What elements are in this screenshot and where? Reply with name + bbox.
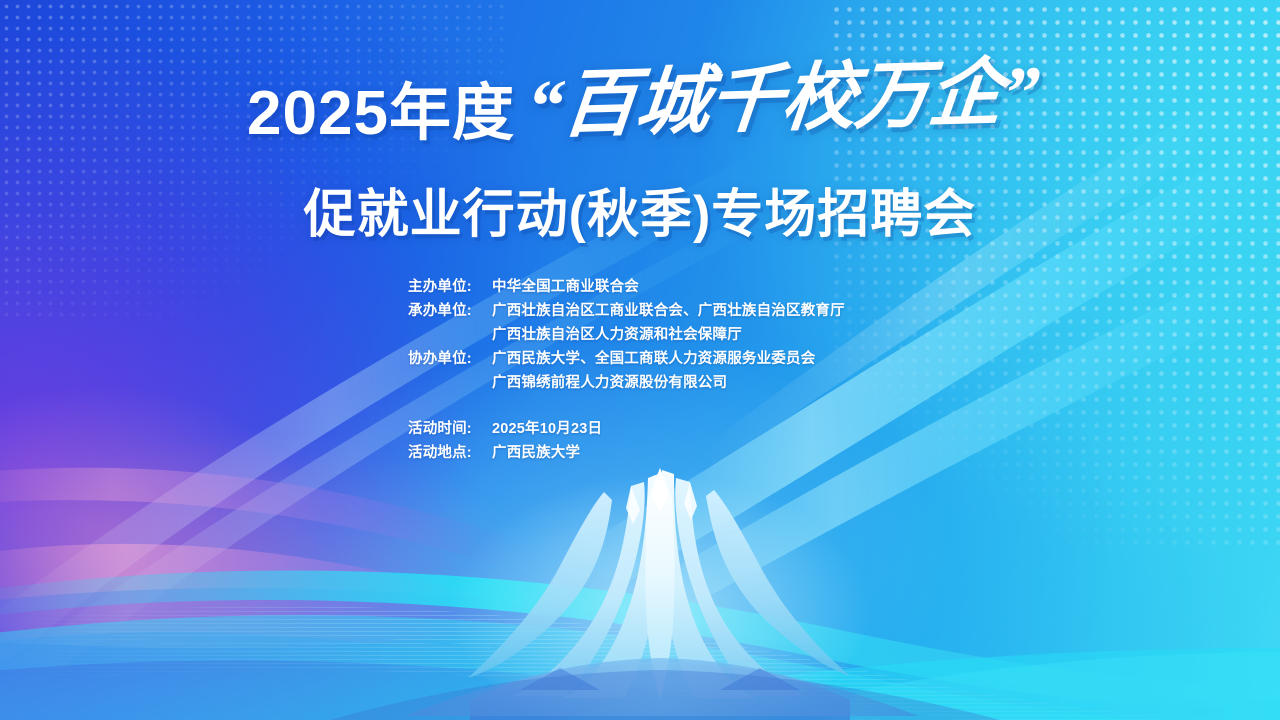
event-time-value: 2025年10月23日	[492, 422, 602, 437]
subtitle: 促就业行动(秋季)专场招聘会	[0, 172, 1280, 247]
info-spacer	[408, 400, 968, 422]
info-row-continued: 广西壮族自治区人力资源和社会保障厅	[408, 328, 968, 352]
info-label: 承办单位:	[408, 304, 492, 319]
event-time-row: 活动时间: 2025年10月23日	[408, 422, 968, 446]
info-row-continued: 广西锦绣前程人力资源股份有限公司	[408, 376, 968, 400]
event-place-value: 广西民族大学	[492, 446, 580, 461]
info-row: 主办单位: 中华全国工商业联合会	[408, 280, 968, 304]
event-time-label: 活动时间:	[408, 422, 492, 437]
poster-content: 2025年度 “百城千校万企” 促就业行动(秋季)专场招聘会 主办单位: 中华全…	[0, 0, 1280, 720]
event-place-row: 活动地点: 广西民族大学	[408, 446, 968, 470]
info-row: 承办单位: 广西壮族自治区工商业联合会、广西壮族自治区教育厅	[408, 304, 968, 328]
info-value: 广西壮族自治区人力资源和社会保障厅	[492, 328, 742, 343]
info-group-co-organizer: 协办单位: 广西民族大学、全国工商联人力资源服务业委员会 广西锦绣前程人力资源股…	[408, 352, 968, 400]
info-group-host: 承办单位: 广西壮族自治区工商业联合会、广西壮族自治区教育厅 广西壮族自治区人力…	[408, 304, 968, 352]
info-value: 中华全国工商业联合会	[492, 280, 639, 295]
info-group-organizer: 主办单位: 中华全国工商业联合会	[408, 280, 968, 304]
info-label: 主办单位:	[408, 280, 492, 295]
info-value: 广西锦绣前程人力资源股份有限公司	[492, 376, 727, 391]
title-brush-text: “百城千校万企”	[523, 58, 1041, 143]
info-value: 广西壮族自治区工商业联合会、广西壮族自治区教育厅	[492, 304, 845, 319]
event-place-label: 活动地点:	[408, 446, 492, 461]
title-year-text: 2025年度	[247, 83, 515, 145]
banner-poster: 2025年度 “百城千校万企” 促就业行动(秋季)专场招聘会 主办单位: 中华全…	[0, 0, 1280, 720]
quote-close: ”	[998, 52, 1042, 135]
main-title: 2025年度 “百城千校万企”	[0, 72, 1280, 145]
title-brush-phrase: 百城千校万企	[559, 53, 1006, 147]
info-row: 协办单位: 广西民族大学、全国工商联人力资源服务业委员会	[408, 352, 968, 376]
info-value: 广西民族大学、全国工商联人力资源服务业委员会	[492, 352, 815, 367]
info-label: 协办单位:	[408, 352, 492, 367]
info-block: 主办单位: 中华全国工商业联合会 承办单位: 广西壮族自治区工商业联合会、广西壮…	[408, 280, 968, 470]
